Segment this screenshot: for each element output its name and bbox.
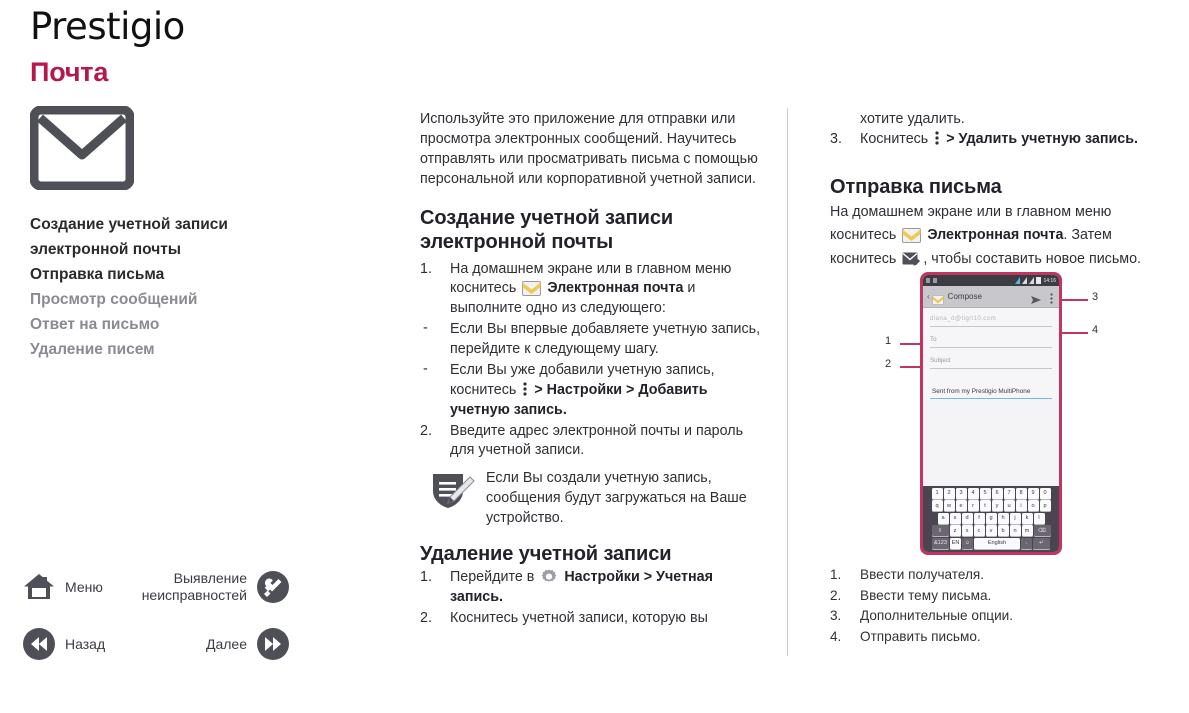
- key[interactable]: 6: [992, 488, 1003, 499]
- continuation-text: хотите удалить.: [860, 111, 965, 127]
- toc-item[interactable]: Отправка письма: [30, 262, 290, 287]
- list-marker: 2.: [830, 586, 841, 607]
- paragraph-part3: , чтобы составить новое письмо.: [923, 251, 1141, 267]
- toc-item[interactable]: Ответ на письмо: [30, 312, 290, 337]
- space-key[interactable]: English: [974, 538, 1020, 549]
- key[interactable]: 7: [1004, 488, 1015, 499]
- envelope-icon: [902, 228, 921, 243]
- key[interactable]: h: [998, 513, 1009, 524]
- troubleshooting-label: Выявление неисправностей: [142, 570, 247, 602]
- key[interactable]: e: [956, 500, 967, 511]
- home-icon: [22, 570, 56, 604]
- key[interactable]: 4: [968, 488, 979, 499]
- key[interactable]: o: [1028, 500, 1039, 511]
- key[interactable]: z: [950, 525, 961, 536]
- list-item: 1. Ввести получателя.: [830, 565, 1170, 586]
- key[interactable]: l: [1034, 513, 1045, 524]
- middle-column: Используйте это приложение для отправки …: [420, 110, 765, 630]
- wifi-icon: [1015, 277, 1020, 284]
- key[interactable]: c: [974, 525, 985, 536]
- subject-field[interactable]: Subject: [930, 355, 1052, 369]
- key[interactable]: 9: [1028, 488, 1039, 499]
- list-marker: 4.: [830, 627, 841, 648]
- list-item: 1. Перейдите в Настройки > Учетная запис…: [420, 568, 765, 608]
- toc-item[interactable]: Удаление писем: [30, 337, 290, 362]
- period-key[interactable]: .: [1021, 538, 1032, 549]
- callout-number-2: 2: [885, 358, 891, 370]
- list-item: 2. Коснитесь учетной записи, которую вы: [420, 609, 765, 629]
- overflow-menu-icon[interactable]: [1050, 291, 1053, 302]
- intro-paragraph: Используйте это приложение для отправки …: [420, 110, 765, 189]
- section-heading-create-account: Создание учетной записи электронной почт…: [420, 207, 765, 254]
- compose-envelope-icon: [902, 252, 921, 267]
- create-account-steps-cont: 2. Введите адрес электронной почты и пар…: [420, 422, 765, 462]
- callout-legend: 1. Ввести получателя. 2. Ввести тему пис…: [830, 565, 1170, 648]
- key[interactable]: d: [962, 513, 973, 524]
- list-item: 3. Дополнительные опции.: [830, 606, 1170, 627]
- callout-number-3: 3: [1092, 291, 1098, 303]
- key[interactable]: i: [1016, 500, 1027, 511]
- toc-item[interactable]: Просмотр сообщений: [30, 287, 290, 312]
- page-title: Почта: [30, 57, 290, 88]
- status-right-icons: 14:16: [1015, 277, 1056, 284]
- continuation-line: хотите удалить.: [830, 110, 1180, 130]
- key[interactable]: u: [1004, 500, 1015, 511]
- notification-icon: [926, 278, 930, 283]
- key[interactable]: f: [974, 513, 985, 524]
- envelope-icon: [522, 281, 541, 296]
- list-marker: 1.: [420, 260, 444, 280]
- phone-status-bar: 14:16: [923, 275, 1059, 286]
- next-button[interactable]: Далее: [152, 627, 290, 661]
- heading-line1: Создание учетной записи: [420, 207, 673, 229]
- nav-row-bottom: Назад Далее: [22, 620, 290, 667]
- tools-icon: [256, 570, 290, 604]
- list-item: 2. Ввести тему письма.: [830, 586, 1170, 607]
- key[interactable]: g: [986, 513, 997, 524]
- list-item: 3. Коснитесь > Удалить учетную запись.: [830, 130, 1180, 150]
- phone-mockup: 14:16 ‹ Compose: [920, 272, 1062, 555]
- list-item-label: Ввести тему письма.: [860, 588, 991, 603]
- keyboard-row-bottom: ⇧ z x c v b n m ⌫: [924, 525, 1058, 536]
- phone-frame: 14:16 ‹ Compose: [920, 272, 1062, 555]
- send-arrow-icon[interactable]: [1030, 292, 1042, 302]
- keyboard-row-top: q w e r t y u i o p: [924, 500, 1058, 511]
- back-label: Назад: [65, 636, 105, 652]
- chevron-left-icon[interactable]: ‹: [927, 292, 930, 301]
- key[interactable]: t: [980, 500, 991, 511]
- list-marker: 2.: [420, 422, 444, 442]
- list-item: - Если Вы впервые добавляете учетную зап…: [420, 320, 765, 360]
- note-text: Если Вы создали учетную запись, сообщени…: [486, 469, 765, 529]
- step-text: Введите адрес электронной почты и пароль…: [450, 423, 743, 459]
- note-pencil-icon: [430, 471, 476, 511]
- symbols-key[interactable]: &123: [932, 538, 949, 549]
- battery-icon: [1036, 277, 1041, 284]
- step-text-bold: Электронная почта: [547, 280, 683, 296]
- troubleshooting-label-line1: Выявление: [174, 570, 247, 586]
- key[interactable]: j: [1010, 513, 1021, 524]
- key[interactable]: q: [932, 500, 943, 511]
- phone-app-bar: ‹ Compose: [923, 286, 1059, 308]
- envelope-icon: [932, 292, 944, 302]
- troubleshooting-label-line2: неисправностей: [142, 587, 247, 603]
- forward-circle-icon: [256, 627, 290, 661]
- phone-keyboard[interactable]: 1 2 3 4 5 6 7 8 9 0 q w e r t y: [923, 486, 1059, 553]
- step-text: Коснитесь учетной записи, которую вы: [450, 610, 708, 626]
- column-divider: [787, 108, 788, 656]
- bullet-text: Если Вы впервые добавляете учетную запис…: [450, 321, 760, 357]
- send-mail-paragraph: На домашнем экране или в главном меню ко…: [830, 201, 1180, 270]
- list-marker: -: [423, 319, 428, 339]
- key[interactable]: n: [1010, 525, 1021, 536]
- callout-number-4: 4: [1092, 324, 1098, 336]
- brand-logo: Prestigio: [30, 8, 290, 47]
- list-marker: 3.: [830, 130, 854, 150]
- key[interactable]: 0: [1040, 488, 1051, 499]
- nav-row-top: Меню Выявление неисправностей: [22, 563, 290, 610]
- toc-item[interactable]: Создание учетной записи: [30, 212, 290, 237]
- list-item: - Если Вы уже добавили учетную запись, к…: [420, 361, 765, 421]
- signal-icon: [1022, 277, 1027, 284]
- key[interactable]: b: [998, 525, 1009, 536]
- envelope-icon: [30, 106, 134, 190]
- message-body-field[interactable]: Sent from my Prestigio MultiPhone: [930, 385, 1052, 399]
- key[interactable]: 1: [932, 488, 943, 499]
- key[interactable]: k: [1022, 513, 1033, 524]
- backspace-key[interactable]: ⌫: [1034, 525, 1051, 536]
- phone-screen-title: Compose: [948, 292, 1030, 301]
- key[interactable]: 2: [944, 488, 955, 499]
- create-account-steps: 1. На домашнем экране или в главном меню…: [420, 260, 765, 320]
- list-marker: -: [423, 360, 428, 380]
- heading-line2: электронной почты: [420, 231, 613, 253]
- back-button[interactable]: Назад: [22, 627, 152, 661]
- section-heading-delete-account: Удаление учетной записи: [420, 543, 765, 567]
- right-column: хотите удалить. 3. Коснитесь > Удалить у…: [830, 110, 1180, 277]
- toc-item[interactable]: электронной почты: [30, 237, 290, 262]
- key[interactable]: a: [938, 513, 949, 524]
- menu-button[interactable]: Меню: [22, 570, 133, 604]
- list-marker: 3.: [830, 606, 841, 627]
- key[interactable]: 3: [956, 488, 967, 499]
- key[interactable]: m: [1022, 525, 1033, 536]
- list-marker: 2.: [420, 609, 444, 629]
- keyboard-row-space: &123 EN ☺ English . ↵: [924, 538, 1058, 549]
- menu-label: Меню: [65, 579, 103, 595]
- step-text-part1: Перейдите в: [450, 569, 534, 585]
- table-of-contents: Создание учетной записи электронной почт…: [30, 212, 290, 363]
- from-field[interactable]: diana_d@tigri10.com: [930, 313, 1052, 327]
- paragraph-bold: Электронная почта: [927, 227, 1063, 243]
- phone-compose-body: diana_d@tigri10.com To Subject Sent from…: [923, 308, 1059, 399]
- note-box: Если Вы создали учетную запись, сообщени…: [430, 469, 765, 529]
- key[interactable]: 5: [980, 488, 991, 499]
- key[interactable]: y: [992, 500, 1003, 511]
- list-item-label: Отправить письмо.: [860, 629, 981, 644]
- emoji-key[interactable]: ☺: [962, 538, 973, 549]
- key[interactable]: 8: [1016, 488, 1027, 499]
- manual-page: Prestigio Почта Создание учетной записи …: [0, 0, 1189, 713]
- key[interactable]: v: [986, 525, 997, 536]
- step-text-part1: Коснитесь: [860, 131, 928, 147]
- gear-icon: [540, 568, 558, 585]
- shift-key[interactable]: ⇧: [932, 525, 949, 536]
- status-clock: 14:16: [1043, 278, 1056, 284]
- step-text-bold: > Удалить учетную запись.: [946, 131, 1138, 147]
- keyboard-row-numbers: 1 2 3 4 5 6 7 8 9 0: [924, 488, 1058, 499]
- keyboard-row-home: a s d f g h j k l: [924, 513, 1058, 524]
- list-item: 2. Введите адрес электронной почты и пар…: [420, 422, 765, 462]
- signal-icon: [1029, 277, 1034, 284]
- section-heading-send-mail: Отправка письма: [830, 176, 1180, 200]
- delete-account-steps: 1. Перейдите в Настройки > Учетная запис…: [420, 568, 765, 629]
- troubleshooting-button[interactable]: Выявление неисправностей: [133, 570, 290, 604]
- overflow-menu-icon: [934, 130, 940, 146]
- create-account-bullets: - Если Вы впервые добавляете учетную зап…: [420, 320, 765, 420]
- list-item: 4. Отправить письмо.: [830, 627, 1170, 648]
- status-left-icons: [926, 278, 937, 283]
- rewind-circle-icon: [22, 627, 56, 661]
- key[interactable]: p: [1040, 500, 1051, 511]
- key[interactable]: r: [968, 500, 979, 511]
- list-item-label: Дополнительные опции.: [860, 608, 1013, 623]
- callout-number-1: 1: [885, 335, 891, 347]
- next-label: Далее: [206, 636, 247, 652]
- key[interactable]: s: [950, 513, 961, 524]
- overflow-menu-icon: [522, 381, 528, 397]
- delete-account-steps-cont: хотите удалить. 3. Коснитесь > Удалить у…: [830, 110, 1180, 150]
- list-item-label: Ввести получателя.: [860, 567, 984, 582]
- footer-navigation: Меню Выявление неисправностей: [22, 563, 290, 677]
- language-key[interactable]: EN: [950, 538, 961, 549]
- list-marker: 1.: [830, 565, 841, 586]
- notification-icon: [933, 278, 937, 283]
- list-marker: 1.: [420, 568, 444, 588]
- list-item: 1. На домашнем экране или в главном меню…: [420, 260, 765, 320]
- key[interactable]: w: [944, 500, 955, 511]
- key[interactable]: x: [962, 525, 973, 536]
- enter-key[interactable]: ↵: [1033, 538, 1050, 549]
- to-field[interactable]: To: [930, 334, 1052, 348]
- callout-legend-list: 1. Ввести получателя. 2. Ввести тему пис…: [830, 565, 1170, 648]
